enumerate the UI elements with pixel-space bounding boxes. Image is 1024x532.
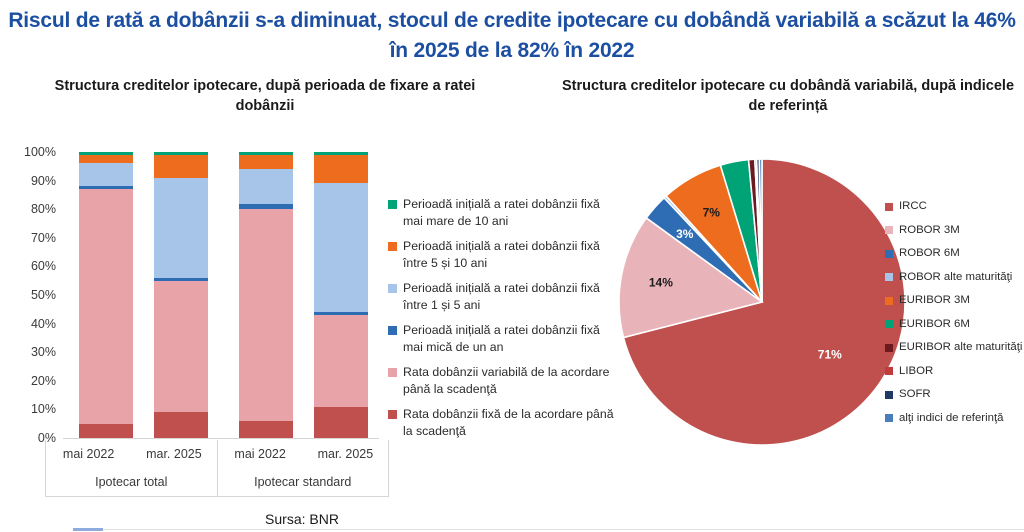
legend-swatch-icon (388, 326, 397, 335)
left-chart-panel: Structura creditelor ipotecare, după per… (0, 74, 620, 532)
bar-segment (314, 315, 368, 407)
pie-chart-svg: 71%14%3%7% (612, 152, 912, 452)
bar-segment (79, 189, 133, 424)
y-axis-tick: 60% (31, 259, 56, 273)
bar-segment (79, 155, 133, 164)
x-axis-group: mai 2022mar. 2025Ipotecar standard (217, 440, 389, 496)
legend-item-label: EURIBOR 6M (899, 318, 970, 331)
y-axis-tick: 80% (31, 202, 56, 216)
pie-data-label: 7% (703, 205, 721, 219)
legend-item-label: alţi indici de referinţă (899, 412, 1003, 425)
legend-swatch-icon (388, 410, 397, 419)
legend-swatch-icon (885, 297, 893, 305)
x-axis-category-label: mar. 2025 (131, 440, 216, 468)
legend-swatch-icon (885, 391, 893, 399)
y-axis-tick: 90% (31, 174, 56, 188)
x-axis-category-label: mar. 2025 (303, 440, 388, 468)
legend-swatch-icon (885, 414, 893, 422)
legend-item-label: ROBOR 6M (899, 247, 960, 260)
legend-item[interactable]: alţi indici de referinţă (885, 412, 1024, 425)
bar-segment (314, 183, 368, 312)
bar-segment (154, 412, 208, 438)
legend-swatch-icon (388, 368, 397, 377)
bar-segment (239, 155, 293, 169)
legend-item-label: EURIBOR alte maturităţi (899, 341, 1022, 354)
legend-item[interactable]: EURIBOR 6M (885, 318, 1024, 331)
y-axis-tick: 10% (31, 402, 56, 416)
legend-swatch-icon (388, 284, 397, 293)
x-axis-category-label: mai 2022 (218, 440, 303, 468)
pie-chart: 71%14%3%7% (612, 152, 912, 452)
x-axis-line (63, 438, 379, 439)
legend-swatch-icon (885, 344, 893, 352)
stacked-bar-chart: 0%10%20%30%40%50%60%70%80%90%100% mai 20… (0, 144, 400, 464)
y-axis-tick: 20% (31, 374, 56, 388)
legend-item[interactable]: SOFR (885, 388, 1024, 401)
legend-item-label: ROBOR alte maturităţi (899, 271, 1012, 284)
x-axis-category-label: mai 2022 (46, 440, 131, 468)
legend-swatch-icon (885, 367, 893, 375)
pie-data-label: 3% (676, 227, 694, 241)
bar-segment (154, 178, 208, 278)
bar-column (239, 152, 293, 438)
legend-item[interactable]: ROBOR 3M (885, 224, 1024, 237)
bottom-divider (98, 529, 1024, 530)
legend-swatch-icon (388, 200, 397, 209)
bar-segment (314, 155, 368, 184)
bar-segment (239, 169, 293, 203)
legend-swatch-icon (885, 320, 893, 328)
legend-item[interactable]: EURIBOR 3M (885, 294, 1024, 307)
x-axis-label-table: mai 2022mar. 2025Ipotecar totalmai 2022m… (45, 440, 389, 497)
legend-item-label: ROBOR 3M (899, 224, 960, 237)
y-axis-tick: 30% (31, 345, 56, 359)
x-axis-group-label: Ipotecar standard (218, 468, 389, 496)
legend-item[interactable]: LIBOR (885, 365, 1024, 378)
page-title: Riscul de rată a dobânzii s-a diminuat, … (0, 6, 1024, 66)
bar-segment (79, 424, 133, 438)
right-chart-panel: Structura creditelor ipotecare cu dobând… (540, 74, 1024, 532)
legend-item[interactable]: EURIBOR alte maturităţi (885, 341, 1024, 354)
x-axis-group: mai 2022mar. 2025Ipotecar total (46, 440, 217, 496)
legend-item[interactable]: ROBOR 6M (885, 247, 1024, 260)
legend-swatch-icon (885, 273, 893, 281)
pie-chart-legend: IRCCROBOR 3MROBOR 6MROBOR alte maturităţ… (885, 200, 1024, 435)
y-axis-tick: 100% (24, 145, 56, 159)
legend-swatch-icon (388, 242, 397, 251)
pie-data-label: 14% (649, 276, 673, 290)
bar-segment (239, 209, 293, 421)
legend-item-label: SOFR (899, 388, 931, 401)
bar-segment (314, 407, 368, 438)
legend-swatch-icon (885, 226, 893, 234)
y-axis-tick: 40% (31, 317, 56, 331)
bar-segment (79, 163, 133, 186)
bar-column (154, 152, 208, 438)
source-note-left: Sursa: BNR (152, 511, 452, 527)
legend-item-label: IRCC (899, 200, 927, 213)
bar-segment (239, 421, 293, 438)
legend-item-label: LIBOR (899, 365, 933, 378)
bar-plot-area: 0%10%20%30%40%50%60%70%80%90%100% (63, 152, 378, 438)
pie-data-label: 71% (818, 348, 842, 362)
legend-swatch-icon (885, 250, 893, 258)
y-axis-tick: 50% (31, 288, 56, 302)
legend-item[interactable]: IRCC (885, 200, 1024, 213)
right-chart-title: Structura creditelor ipotecare cu dobând… (558, 74, 1018, 116)
bar-column (79, 152, 133, 438)
left-chart-title: Structura creditelor ipotecare, după per… (30, 74, 500, 116)
legend-swatch-icon (885, 203, 893, 211)
x-axis-group-label: Ipotecar total (46, 468, 217, 496)
legend-item-label: EURIBOR 3M (899, 294, 970, 307)
bar-column (314, 152, 368, 438)
bar-segment (154, 155, 208, 178)
bottom-legend-marker (73, 528, 103, 531)
y-axis-tick: 70% (31, 231, 56, 245)
bar-segment (154, 281, 208, 413)
legend-item[interactable]: ROBOR alte maturităţi (885, 271, 1024, 284)
